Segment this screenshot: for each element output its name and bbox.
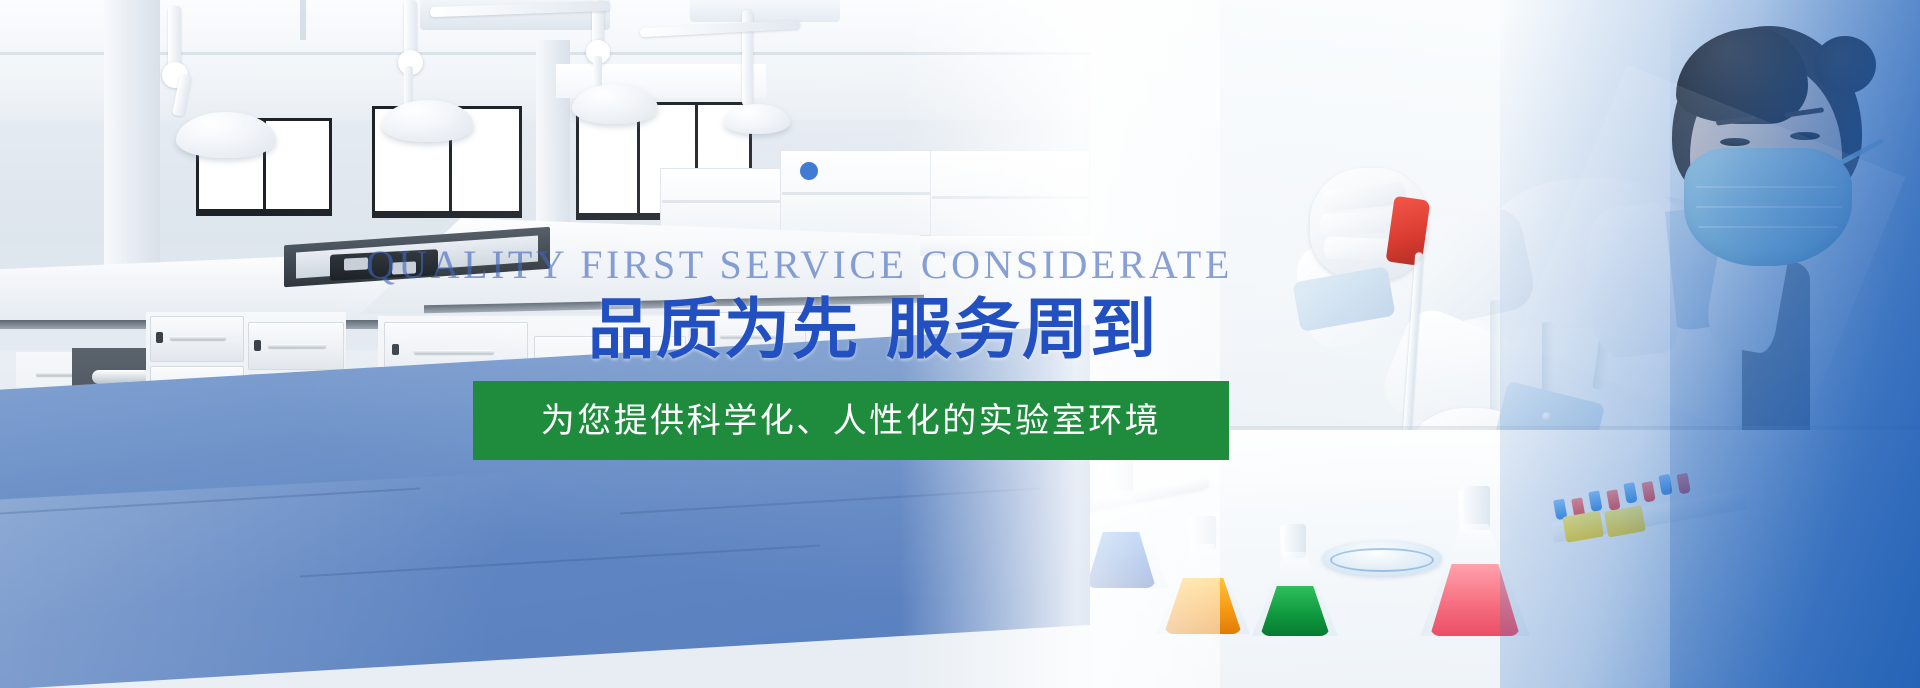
ceiling-vent — [690, 0, 840, 22]
drawer-handle — [414, 350, 494, 354]
drawer-lock — [254, 340, 261, 351]
dome-lamp — [724, 104, 790, 134]
glass-highlight — [1104, 460, 1108, 504]
shelf-bar — [782, 192, 948, 195]
drawer-handle — [268, 344, 326, 348]
shelf-bar — [932, 196, 1088, 199]
drawer-lock — [156, 332, 163, 343]
lamp-neck — [404, 66, 413, 104]
glass-highlight — [1280, 526, 1284, 560]
drawer-lock — [392, 344, 399, 355]
ceiling-rail — [300, 0, 306, 40]
promo-banner: QUALITY FIRST SERVICE CONSIDERATE 品质为先服务… — [0, 0, 1920, 688]
safety-sticker — [800, 162, 818, 180]
scientist-photo — [1090, 0, 1920, 688]
subtitle-bar: 为您提供科学化、人性化的实验室环境 — [473, 381, 1229, 460]
extraction-arm — [168, 6, 181, 70]
flask-orange — [1156, 516, 1250, 634]
headline-left: 品质为先 — [588, 292, 860, 366]
flask-neck — [1460, 486, 1490, 530]
glass-highlight — [1188, 518, 1192, 554]
power-socket — [344, 257, 368, 270]
support-column — [104, 0, 160, 300]
lamp-neck — [593, 56, 602, 88]
eyebrow-tagline: QUALITY FIRST SERVICE CONSIDERATE — [366, 243, 1246, 287]
petri-dish-rim — [1330, 548, 1434, 572]
headline-right: 服务周到 — [886, 292, 1158, 366]
glass-highlight — [1458, 490, 1463, 536]
flask-green — [1252, 524, 1338, 636]
drawer-handle — [170, 336, 226, 340]
reagent-shelf — [930, 150, 1090, 240]
subtitle-text: 为您提供科学化、人性化的实验室环境 — [541, 402, 1162, 440]
headline: 品质为先服务周到 — [588, 287, 1158, 371]
